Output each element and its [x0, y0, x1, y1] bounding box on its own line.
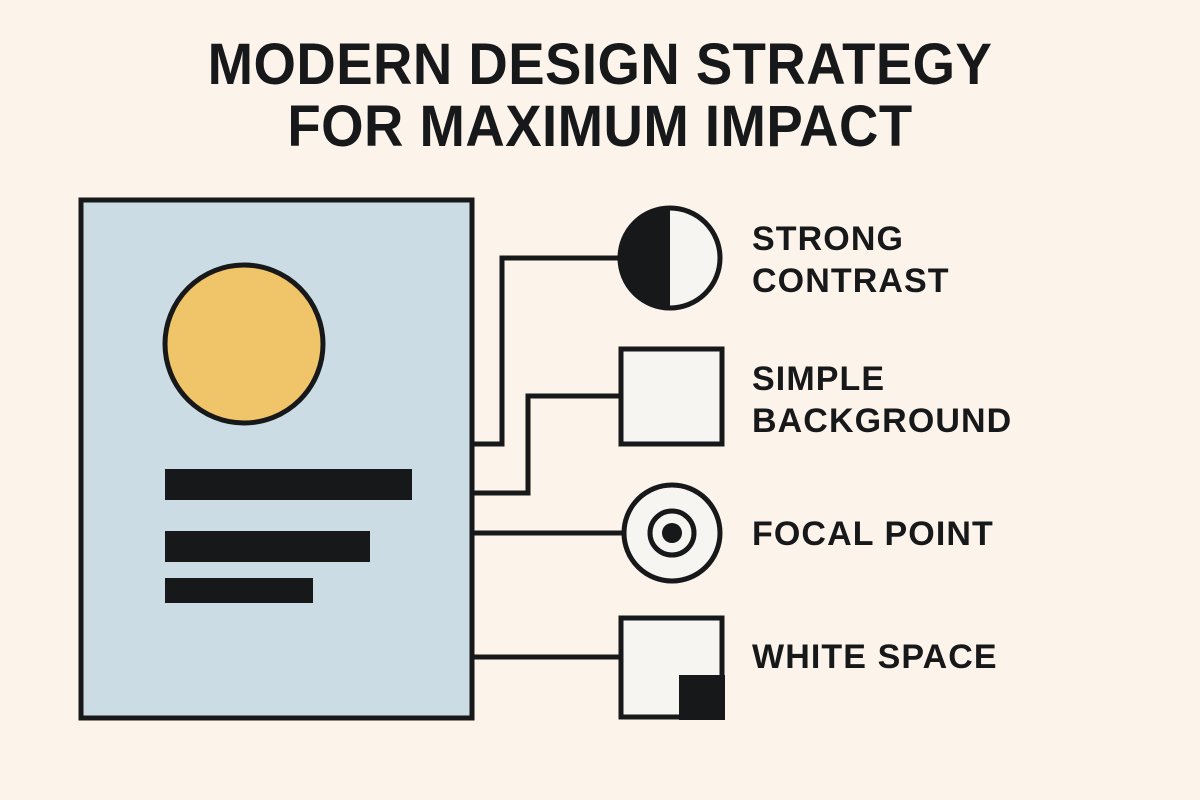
connector-lines: [472, 258, 622, 657]
diagram-svg: STRONG CONTRAST SIMPLE BACKGROUND FOCAL …: [0, 0, 1200, 800]
feature-white-space[interactable]: WHITE SPACE: [621, 618, 998, 720]
feature-label-strong-contrast-line2: CONTRAST: [752, 262, 950, 300]
half-filled-circle-icon: [620, 208, 720, 308]
feature-label-focal-point-line1: FOCAL POINT: [752, 515, 994, 553]
feature-label-white-space-line1: WHITE SPACE: [752, 638, 998, 676]
empty-square-icon: [621, 349, 722, 444]
bullseye-target-icon: [624, 485, 720, 581]
subhead-bar: [165, 531, 370, 562]
focal-circle: [165, 265, 323, 423]
feature-strong-contrast[interactable]: STRONG CONTRAST: [620, 208, 950, 308]
headline-bar: [165, 469, 412, 500]
caption-bar: [165, 578, 313, 603]
feature-label-simple-background-line1: SIMPLE: [752, 360, 885, 398]
square-with-corner-block-icon: [621, 618, 725, 720]
feature-label-simple-background-line2: BACKGROUND: [752, 402, 1012, 440]
feature-focal-point[interactable]: FOCAL POINT: [624, 485, 994, 581]
feature-label-strong-contrast-line1: STRONG: [752, 220, 904, 258]
feature-simple-background[interactable]: SIMPLE BACKGROUND: [621, 349, 1012, 444]
poster-mockup: [81, 200, 472, 718]
connector-strong-contrast: [472, 258, 618, 444]
infographic-canvas: MODERN DESIGN STRATEGY FOR MAXIMUM IMPAC…: [0, 0, 1200, 800]
